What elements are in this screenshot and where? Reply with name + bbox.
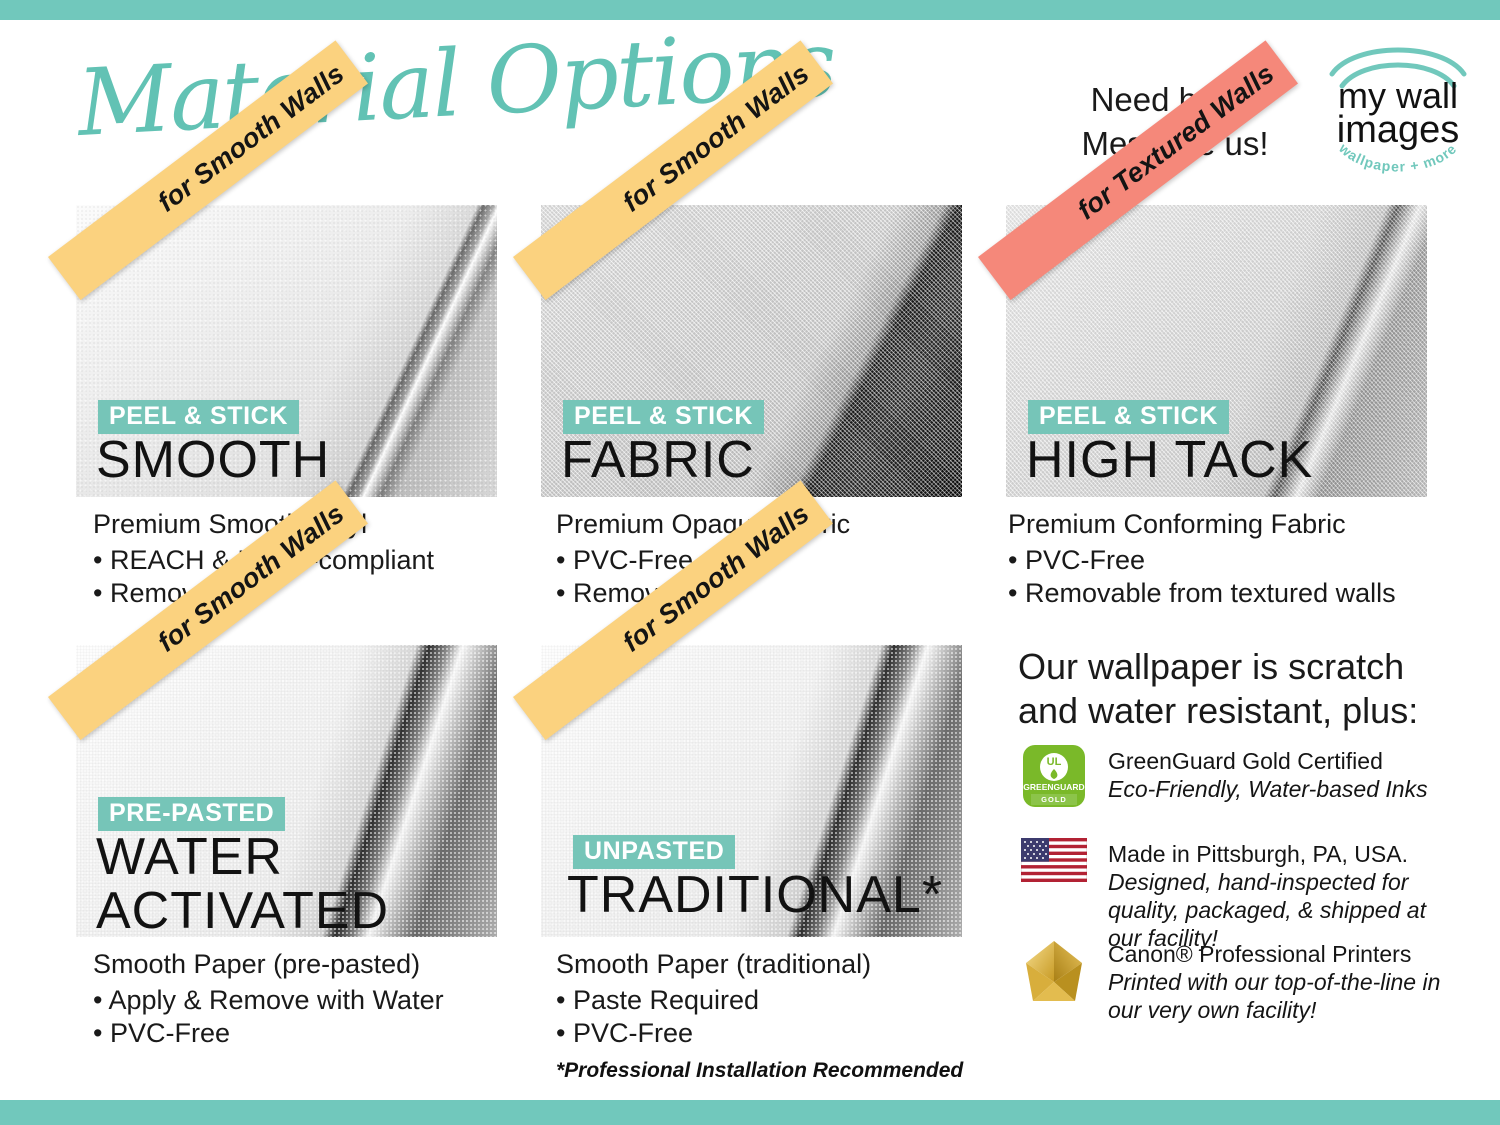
feature-text: GreenGuard Gold Certified Eco-Friendly, …: [1108, 745, 1428, 803]
svg-text:GREENGUARD: GREENGUARD: [1023, 782, 1084, 792]
badge-pre-pasted: PRE-PASTED: [98, 797, 285, 831]
card-heading-water-activated: WATER ACTIVATED: [96, 830, 456, 938]
feature-sub: Printed with our top-of-the-line in our …: [1108, 968, 1458, 1024]
desc-title: Smooth Paper (pre-pasted): [93, 948, 533, 981]
feature-greenguard: UL GREENGUARD GOLD GreenGuard Gold Certi…: [1018, 745, 1458, 807]
desc-title: Premium Conforming Fabric: [1008, 508, 1458, 541]
feature-main: Made in Pittsburgh, PA, USA.: [1108, 840, 1458, 868]
desc-bullet: • Removable: [556, 577, 986, 610]
gold-star-icon: [1018, 938, 1090, 1004]
svg-text:images: images: [1337, 109, 1460, 151]
card-heading-smooth: SMOOTH: [96, 433, 330, 487]
feature-main: GreenGuard Gold Certified: [1108, 747, 1428, 775]
brand-logo: my wall images wallpaper + more: [1318, 30, 1478, 180]
material-card-smooth[interactable]: for Smooth Walls PEEL & STICK SMOOTH: [76, 205, 497, 497]
desc-footnote: *Professional Installation Recommended: [556, 1054, 996, 1087]
badge-peel-and-stick: PEEL & STICK: [98, 400, 299, 434]
badge-unpasted: UNPASTED: [573, 835, 735, 869]
desc-bullet: • PVC-Free: [1008, 544, 1458, 577]
card-description-high-tack: Premium Conforming Fabric • PVC-Free • R…: [1008, 508, 1458, 610]
desc-bullet: • Removable: [93, 577, 523, 610]
material-card-high-tack[interactable]: for Textured Walls PEEL & STICK HIGH TAC…: [1006, 205, 1427, 497]
badge-peel-and-stick: PEEL & STICK: [1028, 400, 1229, 434]
feature-main: Canon® Professional Printers: [1108, 940, 1458, 968]
material-card-water-activated[interactable]: for Smooth Walls PRE-PASTED WATER ACTIVA…: [76, 645, 497, 937]
bottom-accent-bar: [0, 1100, 1500, 1125]
desc-title: Smooth Paper (traditional): [556, 948, 996, 981]
desc-bullet: • PVC-Free: [556, 1017, 996, 1050]
desc-bullet: • Removable from textured walls: [1008, 577, 1458, 610]
usa-flag-icon: [1018, 838, 1090, 882]
desc-bullet: • PVC-Free: [93, 1017, 533, 1050]
card-description-traditional: Smooth Paper (traditional) • Paste Requi…: [556, 948, 996, 1087]
features-heading: Our wallpaper is scratch and water resis…: [1018, 645, 1448, 733]
card-heading-traditional: TRADITIONAL*: [567, 868, 943, 922]
feature-sub: Eco-Friendly, Water-based Inks: [1108, 775, 1428, 803]
feature-made-in-usa: Made in Pittsburgh, PA, USA. Designed, h…: [1018, 838, 1458, 952]
material-card-traditional[interactable]: for Smooth Walls UNPASTED TRADITIONAL*: [541, 645, 962, 937]
card-heading-fabric: FABRIC: [561, 433, 755, 487]
desc-bullet: • Apply & Remove with Water: [93, 984, 533, 1017]
desc-bullet: • Paste Required: [556, 984, 996, 1017]
greenguard-gold-badge-icon: UL GREENGUARD GOLD: [1018, 745, 1090, 807]
card-description-water-activated: Smooth Paper (pre-pasted) • Apply & Remo…: [93, 948, 533, 1050]
material-card-fabric[interactable]: for Smooth Walls PEEL & STICK FABRIC: [541, 205, 962, 497]
feature-canon-printers: Canon® Professional Printers Printed wit…: [1018, 938, 1458, 1024]
page-title: Material Options: [75, 14, 730, 168]
svg-text:UL: UL: [1047, 756, 1062, 768]
svg-text:GOLD: GOLD: [1041, 795, 1067, 804]
feature-text: Made in Pittsburgh, PA, USA. Designed, h…: [1108, 838, 1458, 952]
card-heading-high-tack: HIGH TACK: [1026, 433, 1313, 487]
feature-text: Canon® Professional Printers Printed wit…: [1108, 938, 1458, 1024]
badge-peel-and-stick: PEEL & STICK: [563, 400, 764, 434]
